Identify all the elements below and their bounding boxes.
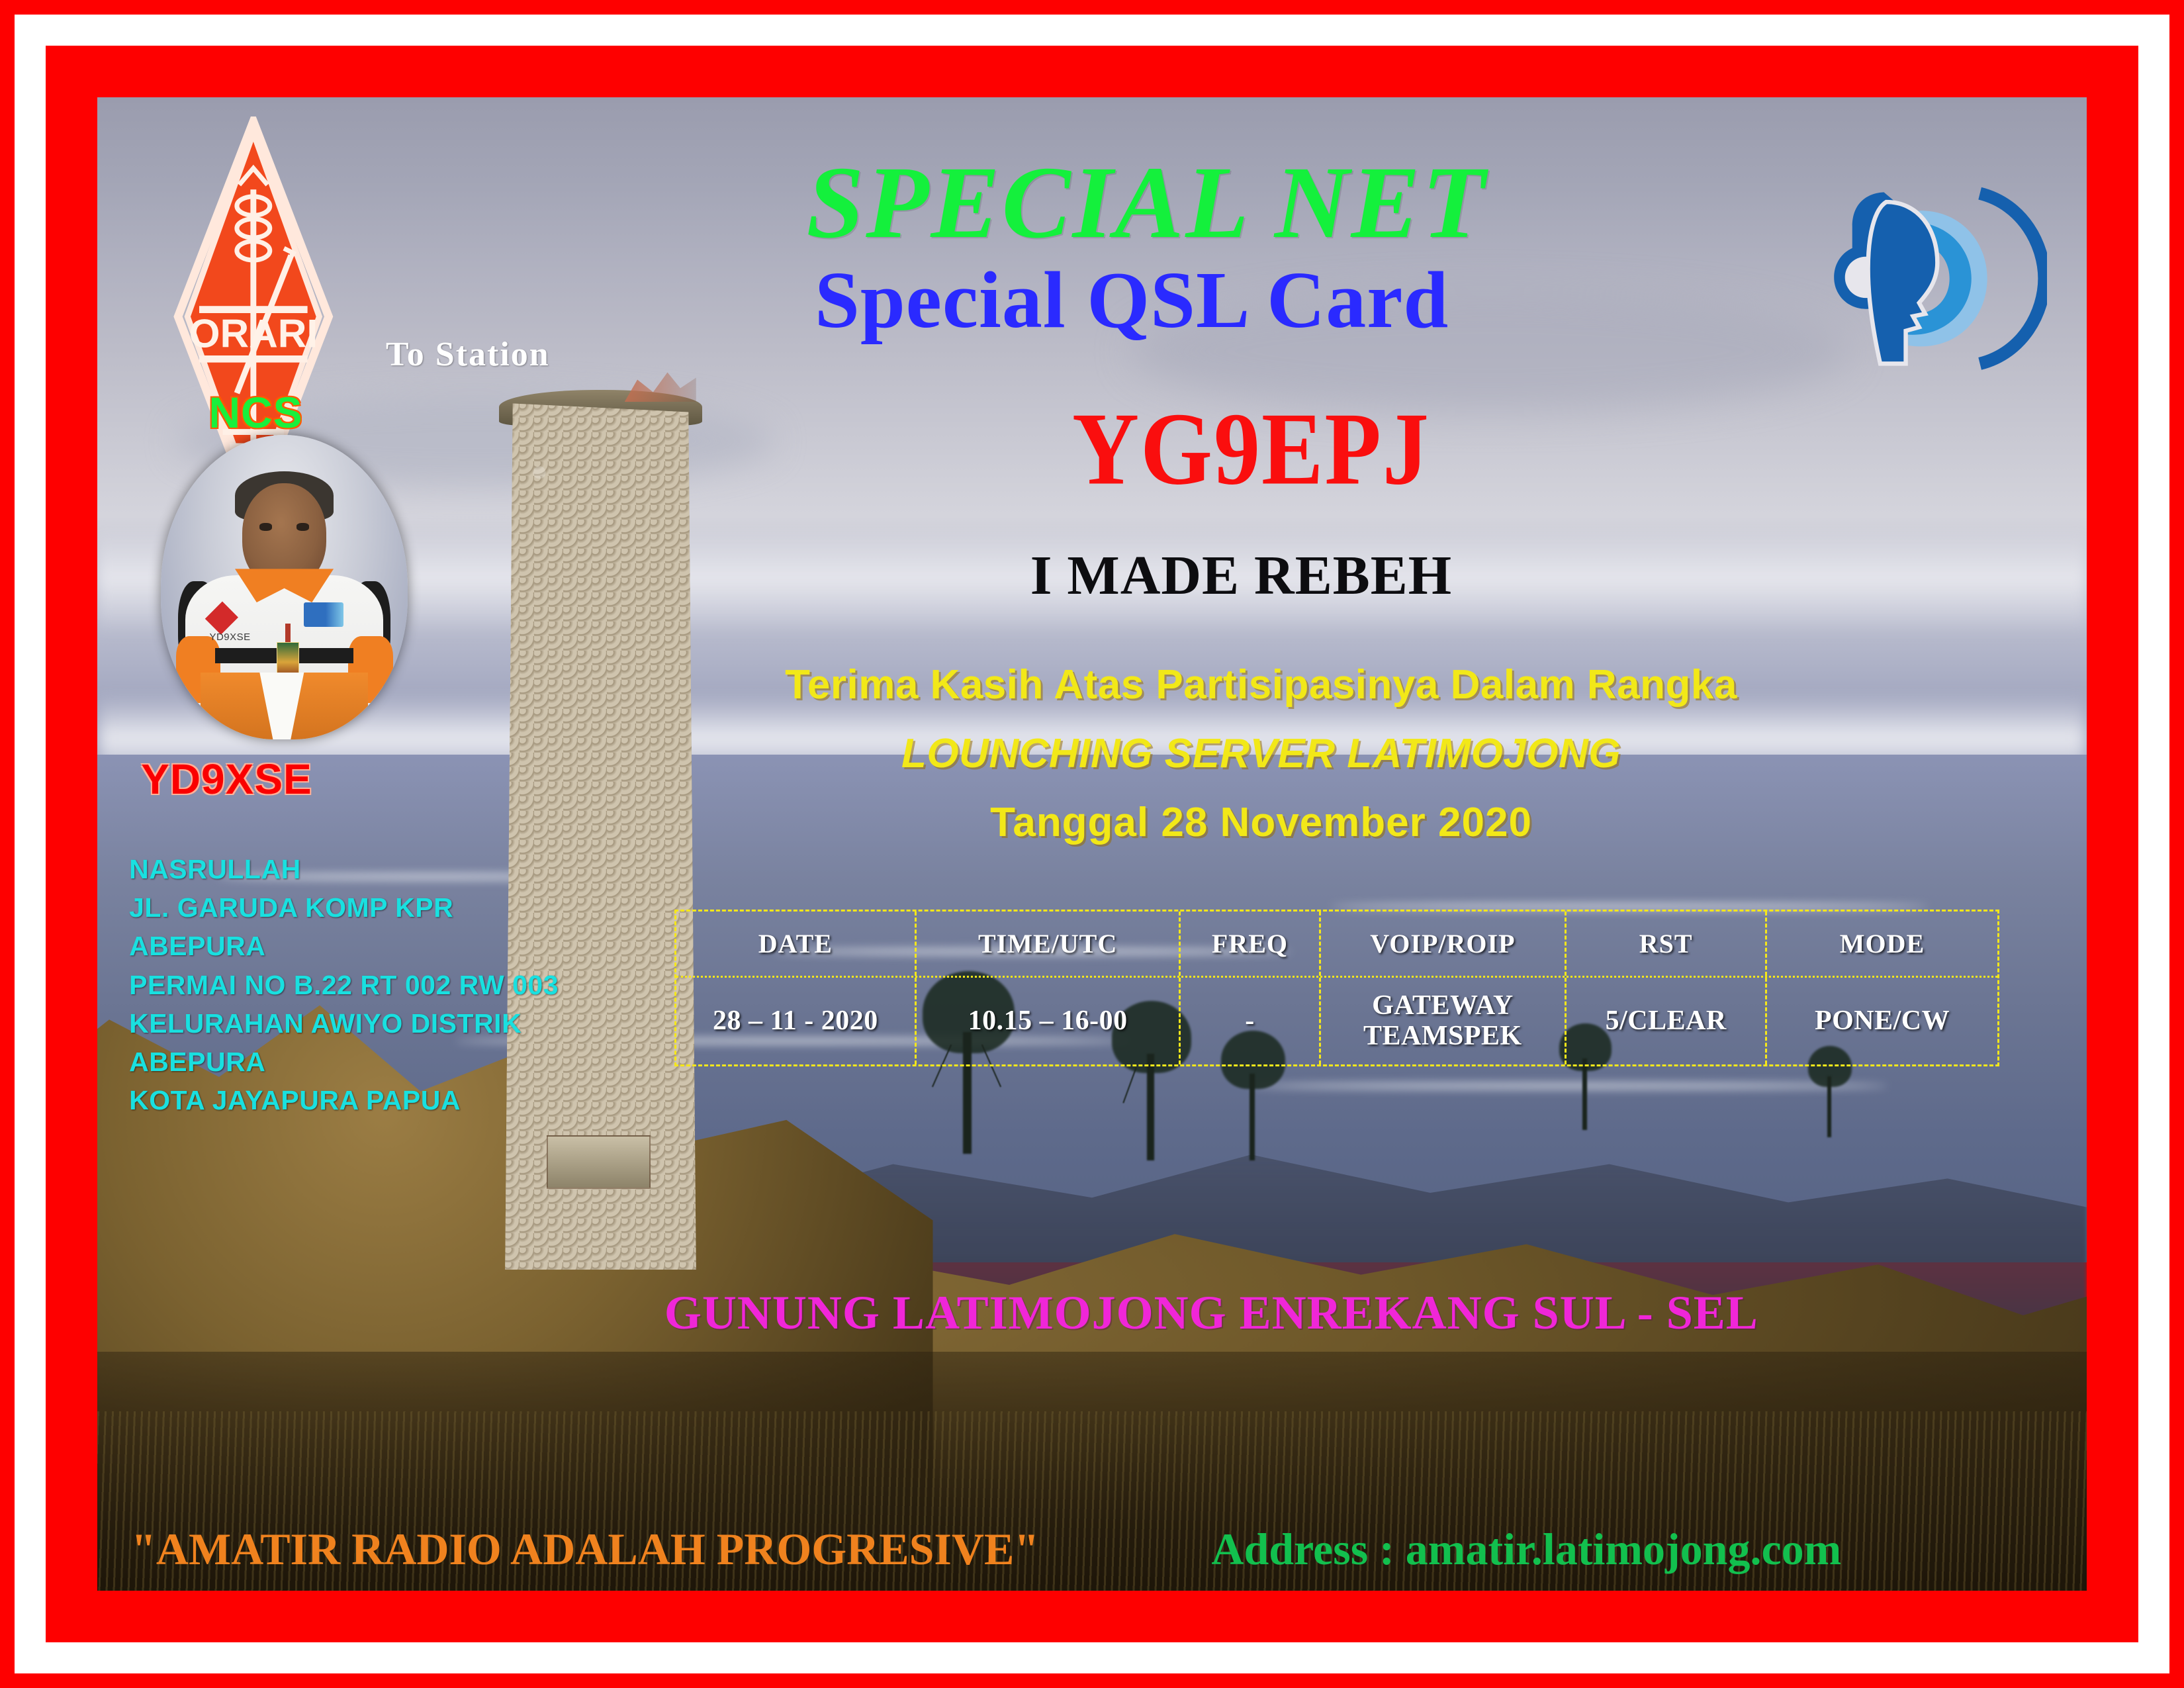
table-header-row: DATE TIME/UTC FREQ VOIP/ROIP RST MODE: [676, 912, 1997, 976]
cell-freq: -: [1181, 978, 1321, 1064]
ncs-role-label: NCS: [208, 387, 302, 438]
frame-white-gap: ORARI: [15, 15, 2169, 1673]
qsl-card-outer-frame: ORARI: [0, 0, 2184, 1688]
ncs-callsign-label: YD9XSE: [141, 755, 312, 804]
event-location-line: GUNUNG LATIMOJONG ENREKANG SUL - SEL: [595, 1289, 1829, 1336]
cell-date: 28 – 11 - 2020: [676, 978, 917, 1064]
cell-voip-roip: GATEWAY TEAMSPEK: [1321, 978, 1567, 1064]
cell-mode: PONE/CW: [1767, 978, 1997, 1064]
column-header-date: DATE: [676, 912, 917, 976]
cell-time-utc: 10.15 – 16-00: [917, 978, 1181, 1064]
frame-inner-red-border: ORARI: [46, 46, 2138, 1642]
address-line: PERMAI NO B.22 RT 002 RW 003: [129, 966, 559, 1004]
monument-plaque: [547, 1135, 650, 1189]
column-header-voip-roip: VOIP/ROIP: [1321, 912, 1567, 976]
table-row: 28 – 11 - 2020 10.15 – 16-00 - GATEWAY T…: [676, 976, 1997, 1064]
column-header-mode: MODE: [1767, 912, 1997, 976]
address-line: JL. GARUDA KOMP KPR: [129, 888, 559, 927]
photo-shirt-callsign: YD9XSE: [198, 632, 262, 643]
thanks-line: Terima Kasih Atas Partisipasinya Dalam R…: [605, 665, 1918, 706]
page-title-special-net: SPECIAL NET: [97, 151, 2087, 254]
address-line: ABEPURA: [129, 927, 559, 965]
qsl-card-body: ORARI: [97, 97, 2087, 1591]
photo-blue-logo-patch: [304, 602, 343, 627]
operator-name: I MADE REBEH: [625, 548, 1858, 604]
photo-eye: [296, 523, 309, 531]
address-line: KELURAHAN AWIYO DISTRIK: [129, 1004, 559, 1043]
footer-slogan: "AMATIR RADIO ADALAH PROGRESIVE": [131, 1523, 1039, 1575]
footer-website-address: Address : amatir.latimojong.com: [1211, 1523, 1841, 1575]
column-header-freq: FREQ: [1181, 912, 1321, 976]
event-name-line: LOUNCHING SERVER LATIMOJONG: [605, 733, 1918, 774]
column-header-time-utc: TIME/UTC: [917, 912, 1181, 976]
address-line: ABEPURA: [129, 1043, 559, 1081]
to-station-label: To Station: [386, 335, 550, 374]
address-line: KOTA JAYAPURA PAPUA: [129, 1081, 559, 1119]
photo-eye: [259, 523, 272, 531]
page-subtitle-qsl-card: Special QSL Card: [97, 260, 2087, 341]
worked-station-callsign: YG9EPJ: [635, 398, 1868, 502]
ncs-operator-photo: YD9XSE: [161, 435, 408, 739]
column-header-rst: RST: [1567, 912, 1767, 976]
station-address-block: NASRULLAH JL. GARUDA KOMP KPR ABEPURA PE…: [129, 850, 559, 1120]
event-date-line: Tanggal 28 November 2020: [605, 802, 1918, 843]
qso-log-table: DATE TIME/UTC FREQ VOIP/ROIP RST MODE 28…: [674, 910, 1999, 1066]
address-line: NASRULLAH: [129, 850, 559, 888]
cell-rst: 5/CLEAR: [1567, 978, 1767, 1064]
